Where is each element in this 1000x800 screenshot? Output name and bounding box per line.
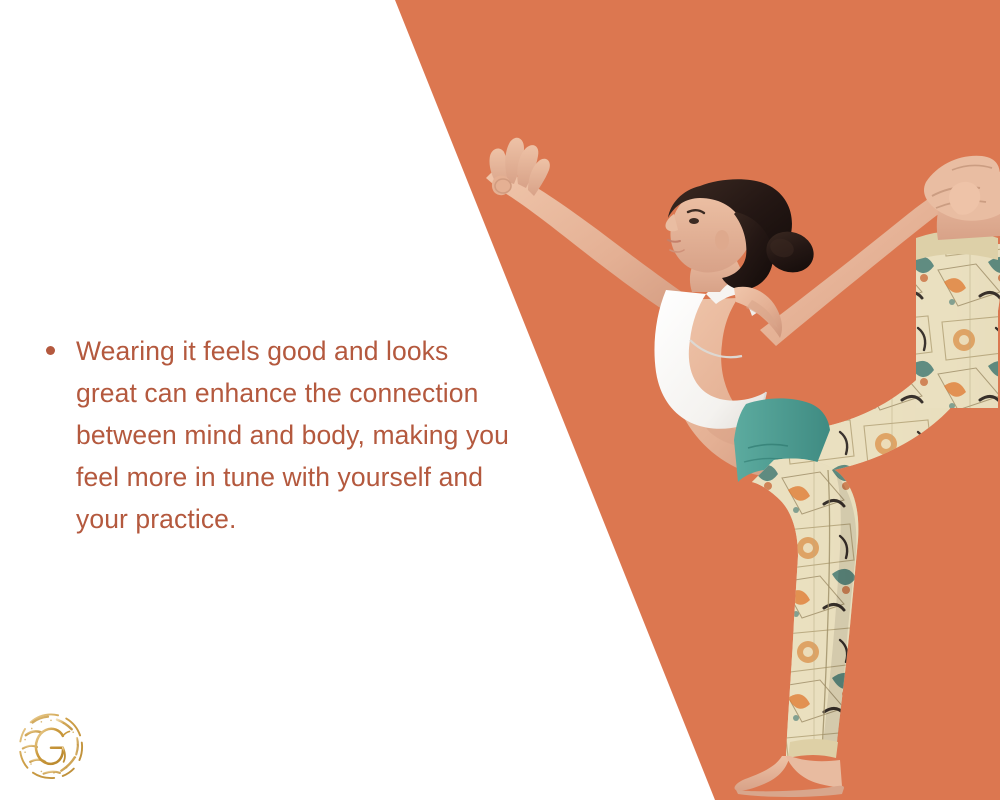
- slide-canvas: Wearing it feels good and looks great ca…: [0, 0, 1000, 800]
- bullet-dot-icon: [46, 346, 55, 355]
- logo-letter-g: [36, 729, 70, 764]
- logo-wreath-icon: [20, 714, 82, 778]
- bullet-text: Wearing it feels good and looks great ca…: [76, 330, 516, 540]
- brand-logo[interactable]: [14, 710, 88, 784]
- bullet-list-item: Wearing it feels good and looks great ca…: [46, 330, 516, 540]
- bullet-copy-block: Wearing it feels good and looks great ca…: [46, 330, 516, 540]
